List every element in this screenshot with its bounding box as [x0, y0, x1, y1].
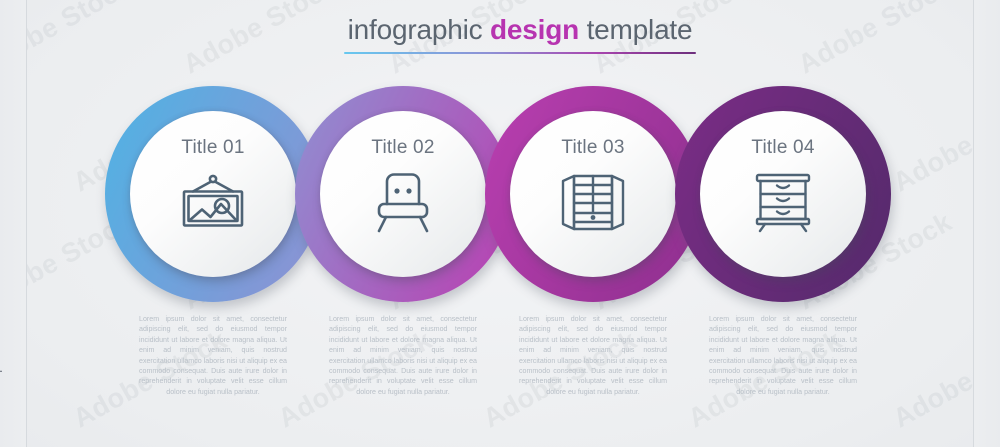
step-description-1: Lorem ipsum dolor sit amet, consectetur … — [139, 314, 287, 397]
step-title: Title 01 — [181, 137, 244, 159]
step-ring-3[interactable]: Title 03 — [485, 86, 701, 302]
step-title: Title 03 — [561, 137, 624, 159]
right-edge-strip — [973, 0, 1000, 447]
step-description-4: Lorem ipsum dolor sit amet, consectetur … — [709, 314, 857, 397]
step-ring-1[interactable]: Title 01 — [105, 86, 321, 302]
title-text: infographic design template — [330, 14, 710, 46]
watermark-text: Adobe Stock — [178, 443, 342, 447]
watermark-text: Adobe Stock — [383, 443, 547, 447]
step-disc-1[interactable]: Title 01 — [130, 111, 296, 277]
step-description-3: Lorem ipsum dolor sit amet, consectetur … — [519, 314, 667, 397]
title-part-3: template — [579, 14, 692, 45]
step-description-2: Lorem ipsum dolor sit amet, consectetur … — [329, 314, 477, 397]
wardrobe-icon — [556, 171, 630, 233]
infographic-canvas: Adobe StockAdobe StockAdobe StockAdobe S… — [0, 0, 1000, 447]
step-disc-4[interactable]: Title 04 — [700, 111, 866, 277]
page-title: infographic design template — [330, 14, 710, 54]
step-ring-4[interactable]: Title 04 — [675, 86, 891, 302]
step-title: Title 02 — [371, 137, 434, 159]
step-disc-3[interactable]: Title 03 — [510, 111, 676, 277]
left-edge-strip: Adobe Stock | #600236956 — [0, 0, 27, 447]
armchair-icon — [366, 171, 440, 233]
title-underline-rule — [344, 52, 696, 54]
stock-credit-label: Adobe Stock | #600236956 — [0, 309, 3, 439]
step-ring-row: Title 01 Title 02 Title 03 Title 04 — [0, 86, 1000, 302]
title-part-2-accent: design — [490, 14, 579, 45]
picture-frame-icon — [176, 171, 250, 233]
watermark-text: Adobe Stock — [178, 0, 342, 80]
step-disc-2[interactable]: Title 02 — [320, 111, 486, 277]
watermark-text: Adobe Stock — [793, 443, 957, 447]
step-title: Title 04 — [751, 137, 814, 159]
step-ring-2[interactable]: Title 02 — [295, 86, 511, 302]
watermark-text: Adobe Stock — [588, 443, 752, 447]
nightstand-icon — [746, 171, 820, 233]
title-part-1: infographic — [348, 14, 490, 45]
watermark-text: Adobe Stock — [793, 0, 957, 80]
